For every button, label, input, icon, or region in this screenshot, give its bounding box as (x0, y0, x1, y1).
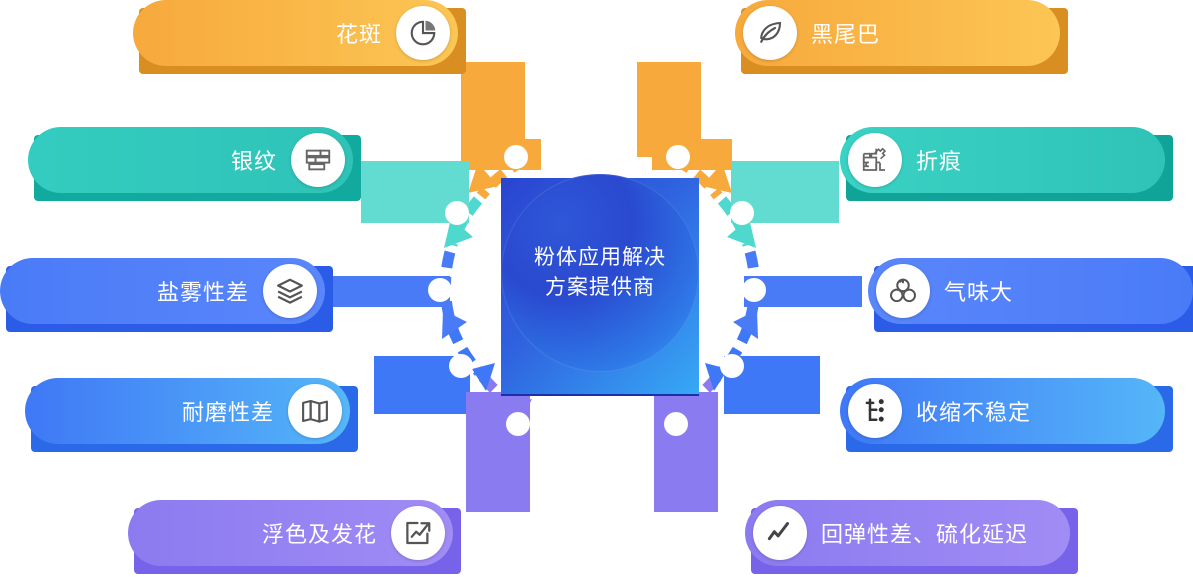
brick-wall-icon (291, 133, 345, 187)
pill-body: 黑尾巴 (735, 0, 1060, 66)
pill-body: 银纹 (28, 127, 353, 193)
node-label: 黑尾巴 (811, 17, 880, 49)
node-yin-wen[interactable]: 银纹 (28, 127, 353, 193)
pill-body: 收缩不稳定 (840, 378, 1165, 444)
dot-qi-wei (742, 278, 766, 302)
stem-hua-ban-horizontal (461, 139, 541, 170)
node-qi-wei-da[interactable]: 气味大 (868, 258, 1193, 324)
node-hui-tan-xing-cha[interactable]: 回弹性差、硫化延迟 (745, 500, 1070, 566)
dot-hei-wei-ba (666, 145, 690, 169)
node-hua-ban[interactable]: 花斑 (133, 0, 458, 66)
leaf-icon (743, 6, 797, 60)
node-label: 气味大 (944, 275, 1013, 307)
line-chart-icon (753, 506, 807, 560)
dot-hua-ban (504, 145, 528, 169)
center-hub-line2: 方案提供商 (545, 273, 655, 303)
pill-body: 花斑 (133, 0, 458, 66)
dot-hui-tan (664, 412, 688, 436)
puzzle-icon (848, 133, 902, 187)
stem-hei-wei-ba-horizontal (652, 139, 732, 170)
node-fu-se-ji-fa-hua[interactable]: 浮色及发花 (128, 500, 453, 566)
node-label: 浮色及发花 (262, 517, 377, 549)
center-hub-line1: 粉体应用解决 (534, 243, 666, 273)
node-label: 银纹 (231, 144, 277, 176)
node-label: 耐磨性差 (182, 395, 274, 427)
trend-up-box-icon (391, 506, 445, 560)
layers-icon (263, 264, 317, 318)
map-icon (288, 384, 342, 438)
dot-nai-mo (449, 354, 473, 378)
pill-body: 耐磨性差 (25, 378, 350, 444)
node-label: 折痕 (916, 144, 962, 176)
node-label: 盐雾性差 (157, 275, 249, 307)
recycle-icon (876, 264, 930, 318)
pill-body: 折痕 (840, 127, 1165, 193)
node-shou-suo-bu-wen-ding[interactable]: 收缩不稳定 (840, 378, 1165, 444)
sitemap-icon (848, 384, 902, 438)
node-nai-mo-xing-cha[interactable]: 耐磨性差 (25, 378, 350, 444)
pie-chart-icon (396, 6, 450, 60)
pill-body: 盐雾性差 (0, 258, 325, 324)
pill-body: 气味大 (868, 258, 1193, 324)
node-zhe-hen[interactable]: 折痕 (840, 127, 1165, 193)
diagram-canvas: 粉体应用解决 方案提供商 花斑 黑尾巴 (0, 0, 1193, 577)
dot-shou-suo (720, 354, 744, 378)
node-yan-wu-xing-cha[interactable]: 盐雾性差 (0, 258, 325, 324)
pill-body: 回弹性差、硫化延迟 (745, 500, 1070, 566)
center-hub-label: 粉体应用解决 方案提供商 (501, 174, 699, 372)
dot-zhe-hen (730, 201, 754, 225)
node-hei-wei-ba[interactable]: 黑尾巴 (735, 0, 1060, 66)
dot-yan-wu (428, 278, 452, 302)
node-label: 花斑 (336, 17, 382, 49)
dot-yin-wen (445, 201, 469, 225)
dot-fu-se (506, 412, 530, 436)
node-label: 回弹性差、硫化延迟 (821, 517, 1028, 549)
pill-body: 浮色及发花 (128, 500, 453, 566)
node-label: 收缩不稳定 (916, 395, 1031, 427)
